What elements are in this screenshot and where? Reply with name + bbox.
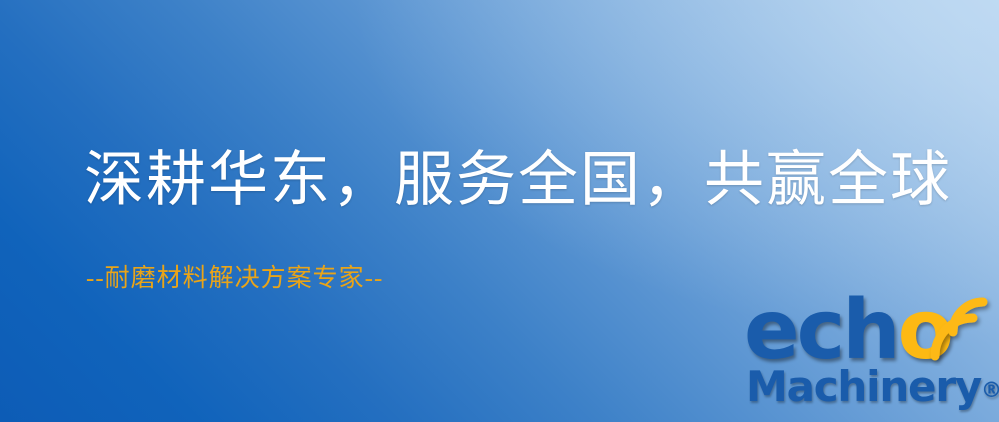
logo-wordmark: echo [744, 290, 951, 372]
echo-wave-icon [927, 294, 999, 366]
logo-tagline-text: Machinery [746, 362, 981, 411]
registered-trademark-icon: ® [981, 378, 999, 402]
echo-machinery-logo[interactable]: echo Machinery® [744, 296, 996, 418]
banner-subtitle: --耐磨材料解决方案专家-- [86, 266, 383, 291]
banner-headline: 深耕华东，服务全国，共赢全球 [84, 150, 952, 210]
hero-banner: 深耕华东，服务全国，共赢全球 --耐磨材料解决方案专家-- echo Machi… [0, 0, 999, 422]
logo-tagline: Machinery® [746, 366, 999, 408]
